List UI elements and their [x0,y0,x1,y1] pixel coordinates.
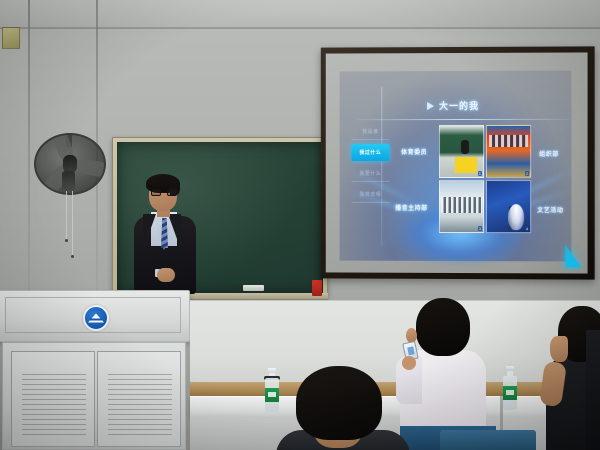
slide-photo-bottom-right: 4 [486,180,531,233]
audience-head [296,366,382,440]
water-bottle[interactable] [503,366,517,410]
audience-head [416,298,470,356]
presenter-lapel-left [143,214,156,250]
slide-nav-item-2[interactable]: 我要什么 [351,165,389,182]
glasses-icon [151,189,177,196]
presenter-lapel-right [168,214,181,250]
photo-number: 2 [525,171,529,176]
cabinet-door-left[interactable] [11,351,95,447]
lectern-cabinet [2,342,186,450]
fan-pull-cord[interactable] [72,191,73,255]
chevron-right-icon [427,102,434,110]
fan-motor-body [62,171,75,193]
slide-nav-item-3[interactable]: 我将去哪 [351,186,389,203]
vent-slots [22,374,86,436]
chalk-box[interactable] [312,280,322,296]
slide-label-bottom-left: 播音主持部 [395,203,427,212]
wall-plaque [2,27,20,49]
projected-slide: 大一的我 我是谁 我过什么 我要什么 我将去哪 1 2 3 [340,71,572,262]
slide-title-text: 大一的我 [439,99,479,112]
presenter [131,174,199,294]
slide-horizontal-rule [357,119,569,120]
presenter-hands [157,268,175,282]
slide-label-top-right: 组织部 [539,149,559,158]
audience-torso [586,330,600,450]
lectern [0,290,190,450]
audience-hand [402,356,416,370]
slide-photo-grid: 1 2 3 4 [439,125,531,233]
water-bottle[interactable] [265,368,279,412]
slide-photo-top-left: 1 [439,125,484,178]
wall-seam-left [28,0,30,300]
slide-photo-bottom-left: 3 [439,180,484,233]
school-emblem-icon [83,305,109,331]
photo-number: 3 [478,226,482,231]
slide-label-bottom-right: 文艺活动 [537,205,563,214]
classroom-photo-scene: 大一的我 我是谁 我过什么 我要什么 我将去哪 1 2 3 [0,0,600,450]
photo-number: 4 [525,226,529,231]
vent-slots [108,374,172,436]
slide-photo-top-right: 2 [486,125,531,178]
audience-member-far-right [586,330,600,450]
chalk-eraser[interactable] [243,285,264,291]
slide-title: 大一的我 [427,99,479,112]
chair-back [440,430,536,450]
fan-pull-cord[interactable] [66,191,67,239]
slide-corner-triangle-icon [565,245,581,267]
wall-fan [34,133,106,199]
audience-member-white-shirt [400,298,486,450]
slide-nav-item-0[interactable]: 我是谁 [351,123,389,140]
ceiling-line [0,28,600,29]
wall-upper-band [0,0,600,28]
projection-screen-frame: 大一的我 我是谁 我过什么 我要什么 我将去哪 1 2 3 [321,46,595,279]
lectern-top [0,290,190,342]
slide-label-top-left: 体育委员 [401,147,427,156]
slide-nav: 我是谁 我过什么 我要什么 我将去哪 [351,123,389,207]
projection-screen-surface: 大一的我 我是谁 我过什么 我要什么 我将去哪 1 2 3 [326,52,588,273]
cabinet-door-right[interactable] [97,351,181,447]
slide-nav-item-1[interactable]: 我过什么 [351,144,389,161]
photo-number: 1 [478,171,482,176]
audience-face [550,336,568,362]
audience-member-foreground [290,366,396,450]
